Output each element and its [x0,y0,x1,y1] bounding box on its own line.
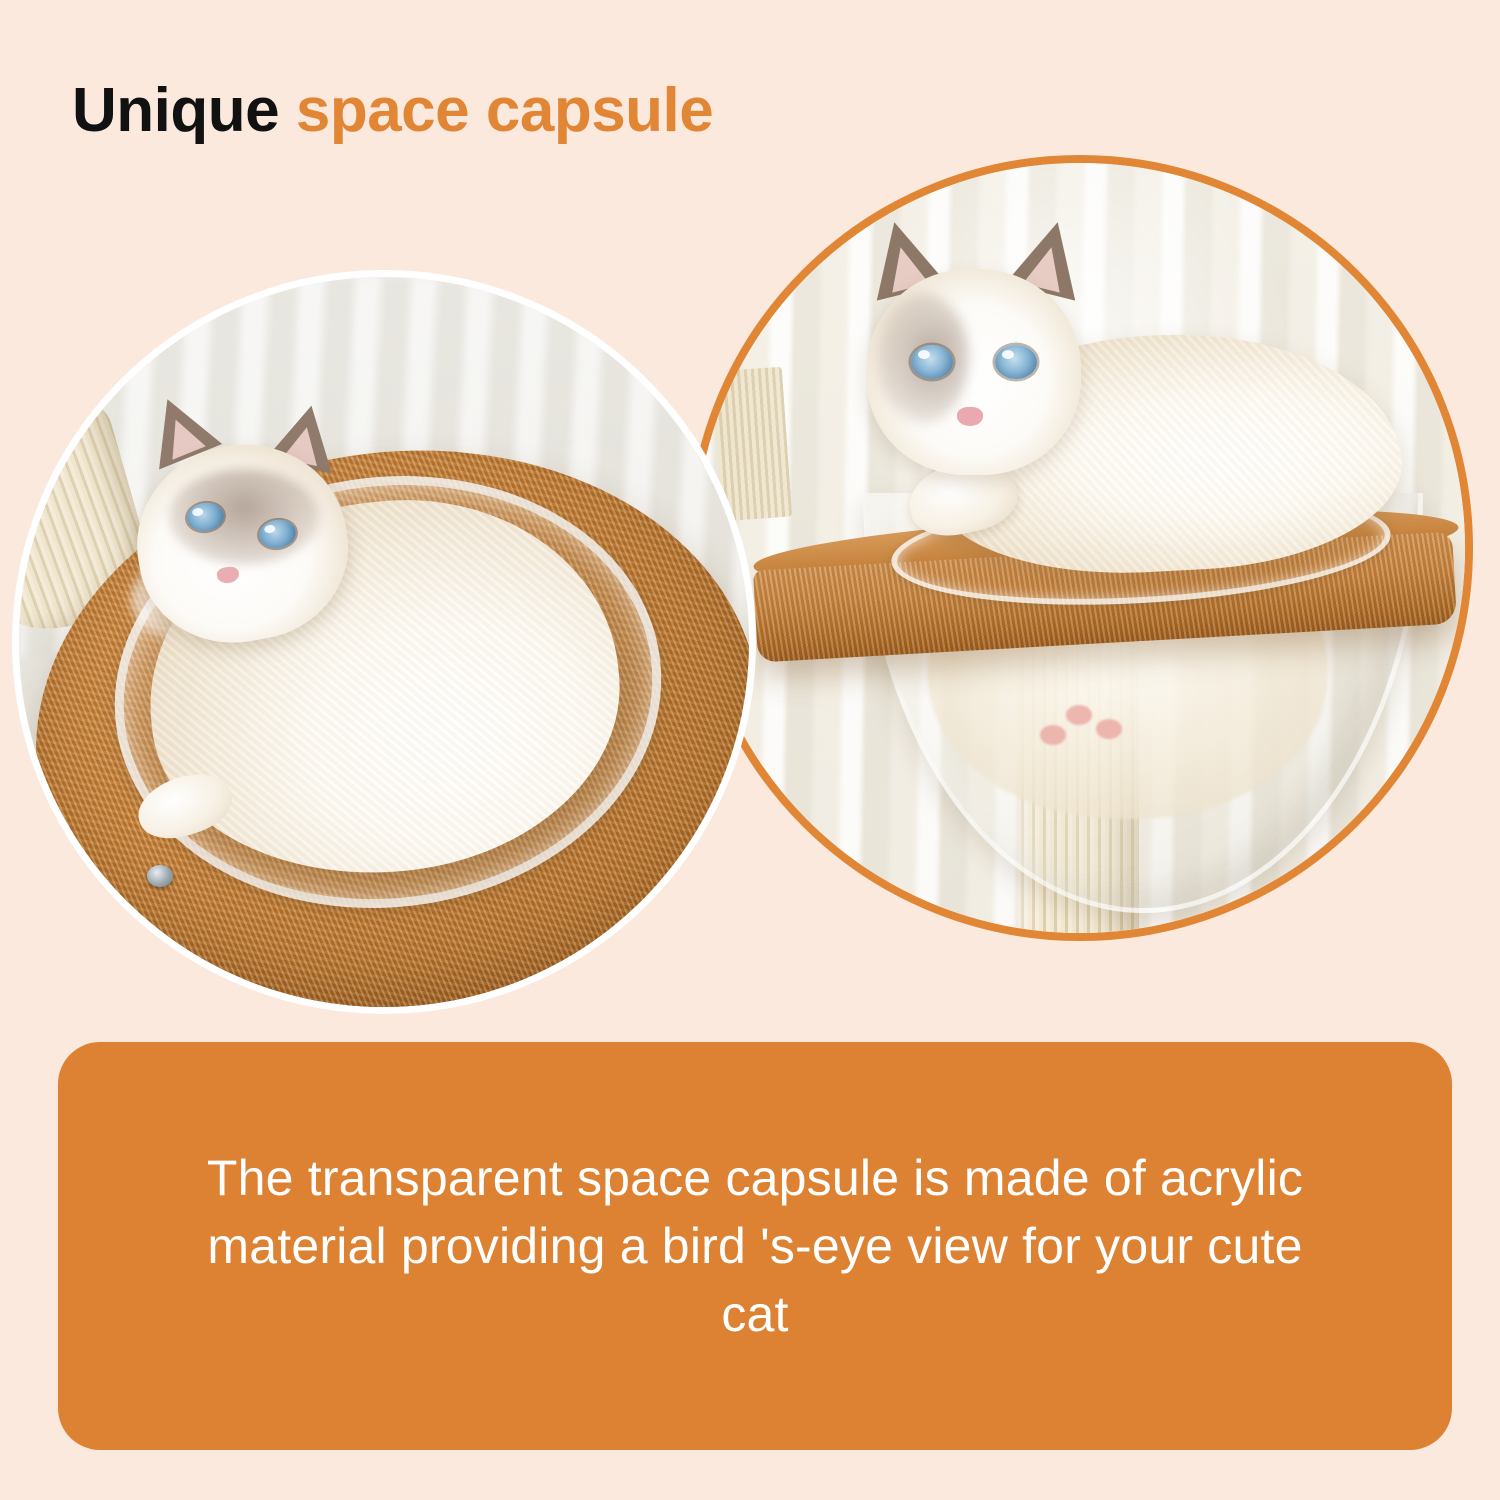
caption-text: The transparent space capsule is made of… [195,1144,1315,1348]
caption-panel: The transparent space capsule is made of… [58,1042,1452,1450]
cat-eye-left [911,345,953,379]
headline-accent-text: space capsule [296,76,713,145]
right-photo-inner [695,163,1465,933]
product-photo-right [687,155,1473,941]
headline-plain-text: Unique [72,76,279,145]
product-photo-left [12,270,756,1014]
paw-pad-icon [1066,705,1092,725]
cat-nose [957,407,983,426]
right-photo-scene [695,163,1465,933]
paw-pad-icon [1096,719,1122,739]
cat-eye-right [995,345,1037,379]
left-photo-scene [19,277,749,1007]
paw-pad-icon [1040,725,1066,745]
mounting-screw [147,865,173,887]
page-headline: Unique space capsule [72,78,713,143]
left-photo-inner [19,277,749,1007]
